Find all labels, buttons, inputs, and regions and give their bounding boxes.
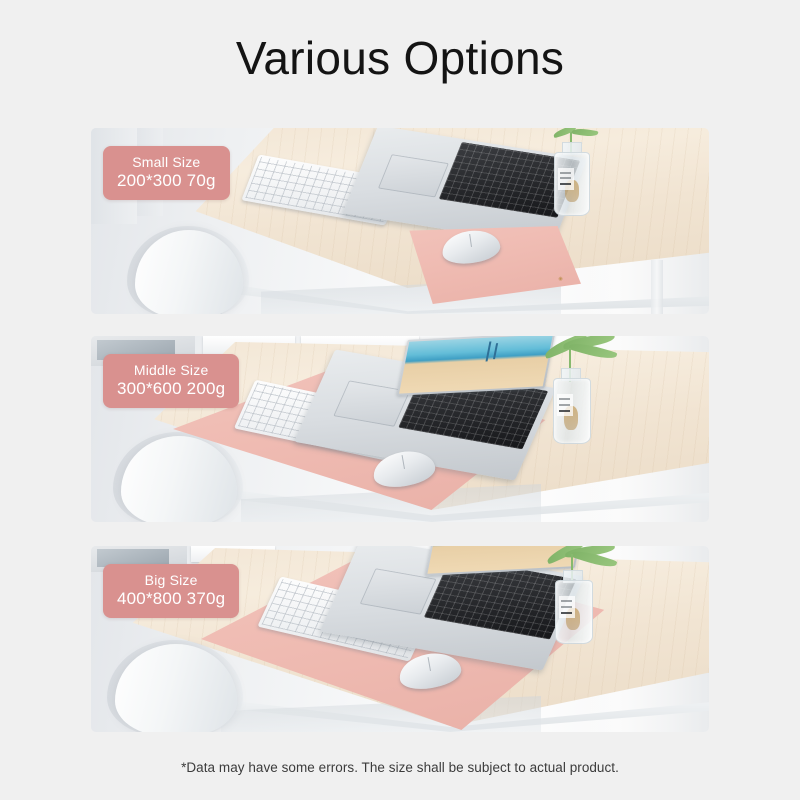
vase-label (557, 394, 573, 416)
size-badge-big: Big Size 400*800 370g (103, 564, 239, 618)
mouse-button-split (428, 657, 431, 671)
screen-wallpaper-beach (399, 336, 553, 394)
product-photo-panel-middle[interactable]: ◉ Middle Size 300* (91, 336, 709, 522)
vase-label (558, 168, 574, 190)
product-photo-panel-big[interactable]: ◉ Big Size 400*800 370g (91, 546, 709, 732)
vase-label (559, 596, 575, 618)
badge-title: Small Size (117, 153, 216, 171)
screen-beach-chair (485, 342, 491, 362)
badge-spec: 300*600 200g (117, 379, 225, 399)
laptop-trackpad (378, 154, 449, 197)
laptop-screen (397, 336, 556, 396)
mouse-button-split (469, 234, 472, 247)
badge-spec: 200*300 70g (117, 171, 216, 191)
badge-title: Big Size (117, 571, 225, 589)
screen-beach-chair (493, 343, 498, 359)
desk-leg (651, 260, 663, 314)
badge-title: Middle Size (117, 361, 225, 379)
size-badge-small: Small Size 200*300 70g (103, 146, 230, 200)
page-title: Various Options (0, 34, 800, 82)
mouse-button-split (402, 455, 405, 469)
disclaimer-footnote: *Data may have some errors. The size sha… (0, 760, 800, 775)
pad-brand-logo: ◉ (558, 276, 563, 282)
badge-spec: 400*800 370g (117, 589, 225, 609)
size-badge-middle: Middle Size 300*600 200g (103, 354, 239, 408)
product-photo-panel-small[interactable]: ◉ Small Size 200*300 70g (91, 128, 709, 314)
